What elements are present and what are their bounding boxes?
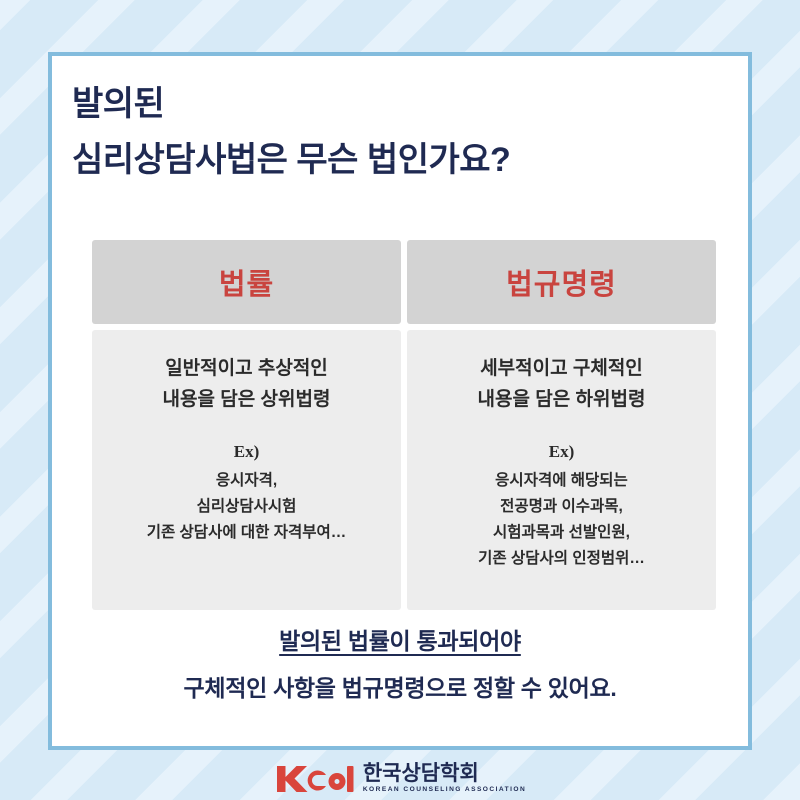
organization-name-en: KOREAN COUNSELING ASSOCIATION (363, 787, 526, 794)
example-label-law: Ex) (234, 442, 260, 462)
conclusion-line-2: 구체적인 사항을 법규명령으로 정할 수 있어요. (52, 669, 748, 703)
organization-name-kr: 한국상담학회 (363, 763, 526, 784)
footer-logo: 한국상담학회 KOREAN COUNSELING ASSOCIATION (0, 763, 800, 794)
list-item: 응시자격, (147, 468, 347, 494)
list-item: 시험과목과 선발인원, (478, 520, 645, 546)
content-card: 발의된 심리상담사법은 무슨 법인가요? 법률 일반적이고 추상적인 내용을 담… (48, 52, 752, 750)
example-list-decree: 응시자격에 해당되는 전공명과 이수과목, 시험과목과 선발인원, 기존 상담사… (478, 468, 645, 572)
example-label-decree: Ex) (549, 442, 575, 462)
description-line: 일반적이고 추상적인 (163, 354, 331, 385)
heading-line-2: 심리상담사법은 무슨 법인가요? (72, 138, 712, 182)
table-column-law: 법률 일반적이고 추상적인 내용을 담은 상위법령 Ex) 응시자격, 심리상담… (92, 240, 401, 610)
list-item: 기존 상담사의 인정범위… (478, 546, 645, 572)
description-line: 내용을 담은 하위법령 (478, 385, 646, 416)
kca-logo-icon (274, 764, 354, 794)
column-header-decree: 법규명령 (407, 240, 716, 324)
column-description-decree: 세부적이고 구체적인 내용을 담은 하위법령 (478, 354, 646, 416)
list-item: 전공명과 이수과목, (478, 494, 645, 520)
list-item: 심리상담사시험 (147, 494, 347, 520)
logo-text: 한국상담학회 KOREAN COUNSELING ASSOCIATION (363, 763, 526, 794)
column-header-label: 법규명령 (506, 261, 617, 303)
column-header-law: 법률 (92, 240, 401, 324)
column-header-label: 법률 (219, 261, 274, 303)
list-item: 응시자격에 해당되는 (478, 468, 645, 494)
column-body-decree: 세부적이고 구체적인 내용을 담은 하위법령 Ex) 응시자격에 해당되는 전공… (407, 330, 716, 610)
example-list-law: 응시자격, 심리상담사시험 기존 상담사에 대한 자격부여… (147, 468, 347, 546)
description-line: 내용을 담은 상위법령 (163, 385, 331, 416)
page-title: 발의된 심리상담사법은 무슨 법인가요? (72, 82, 712, 182)
column-description-law: 일반적이고 추상적인 내용을 담은 상위법령 (163, 354, 331, 416)
conclusion-line-1: 발의된 법률이 통과되어야 (52, 622, 748, 656)
list-item: 기존 상담사에 대한 자격부여… (147, 520, 347, 546)
conclusion-block: 발의된 법률이 통과되어야 구체적인 사항을 법규명령으로 정할 수 있어요. (52, 622, 748, 703)
heading-line-1: 발의된 (72, 82, 712, 126)
comparison-table: 법률 일반적이고 추상적인 내용을 담은 상위법령 Ex) 응시자격, 심리상담… (92, 240, 716, 610)
infographic-page: 발의된 심리상담사법은 무슨 법인가요? 법률 일반적이고 추상적인 내용을 담… (0, 0, 800, 800)
column-body-law: 일반적이고 추상적인 내용을 담은 상위법령 Ex) 응시자격, 심리상담사시험… (92, 330, 401, 610)
description-line: 세부적이고 구체적인 (478, 354, 646, 385)
table-column-decree: 법규명령 세부적이고 구체적인 내용을 담은 하위법령 Ex) 응시자격에 해당… (407, 240, 716, 610)
